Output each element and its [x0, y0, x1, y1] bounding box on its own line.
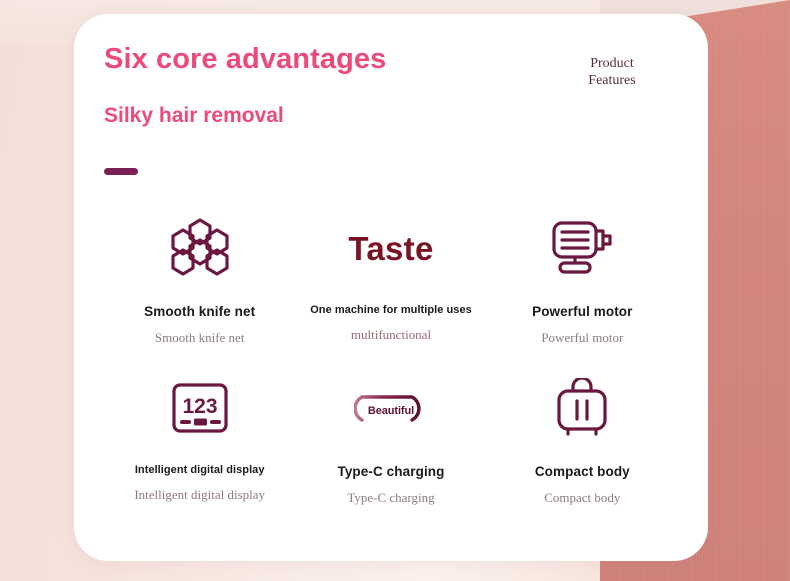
feature-item-typec-charging: Beautiful Type-C charging Type-C chargin… — [295, 364, 486, 524]
beautiful-pill-shape: Beautiful — [354, 393, 428, 423]
taste-wordmark-text: Taste — [348, 232, 433, 265]
feature-item-multifunctional: Taste One machine for multiple uses mult… — [295, 204, 486, 364]
motor-icon — [547, 212, 617, 284]
page-subtitle: Silky hair removal — [104, 104, 284, 128]
eyebrow-label: Product Features — [552, 55, 672, 89]
digital-display-icon: 123 — [171, 372, 229, 444]
feature-label-primary: Compact body — [535, 464, 630, 479]
feature-label-secondary: Type-C charging — [347, 490, 434, 506]
svg-text:123: 123 — [182, 395, 217, 418]
content-card: Six core advantages Silky hair removal P… — [74, 14, 708, 561]
feature-label-primary: Powerful motor — [532, 304, 632, 319]
feature-label-secondary: Intelligent digital display — [134, 487, 265, 503]
feature-label-secondary: Compact body — [544, 490, 620, 506]
feature-grid: Smooth knife net Smooth knife net Taste … — [104, 204, 678, 524]
feature-label-secondary: multifunctional — [351, 327, 431, 343]
feature-label-primary: One machine for multiple uses — [310, 304, 472, 316]
feature-label-secondary: Powerful motor — [541, 330, 623, 346]
feature-item-powerful-motor: Powerful motor Powerful motor — [487, 204, 678, 364]
beautiful-pill-text: Beautiful — [354, 393, 428, 423]
feature-item-smooth-knife-net: Smooth knife net Smooth knife net — [104, 204, 295, 364]
feature-label-secondary: Smooth knife net — [155, 330, 245, 346]
feature-item-compact-body: Compact body Compact body — [487, 364, 678, 524]
feature-label-primary: Type-C charging — [337, 464, 444, 479]
page-title: Six core advantages — [104, 43, 386, 76]
taste-wordmark-icon: Taste — [348, 212, 433, 284]
honeycomb-icon — [169, 212, 231, 284]
beautiful-pill-icon: Beautiful — [354, 372, 428, 444]
product-features-poster: Six core advantages Silky hair removal P… — [0, 0, 790, 581]
feature-item-digital-display: 123 Intelligent digital display Intellig… — [104, 364, 295, 524]
eyebrow-line-2: Features — [552, 72, 672, 89]
title-underline-rule — [104, 168, 138, 175]
luggage-icon — [554, 372, 610, 444]
eyebrow-line-1: Product — [552, 55, 672, 72]
feature-label-primary: Smooth knife net — [144, 304, 255, 319]
feature-label-primary: Intelligent digital display — [135, 464, 265, 476]
